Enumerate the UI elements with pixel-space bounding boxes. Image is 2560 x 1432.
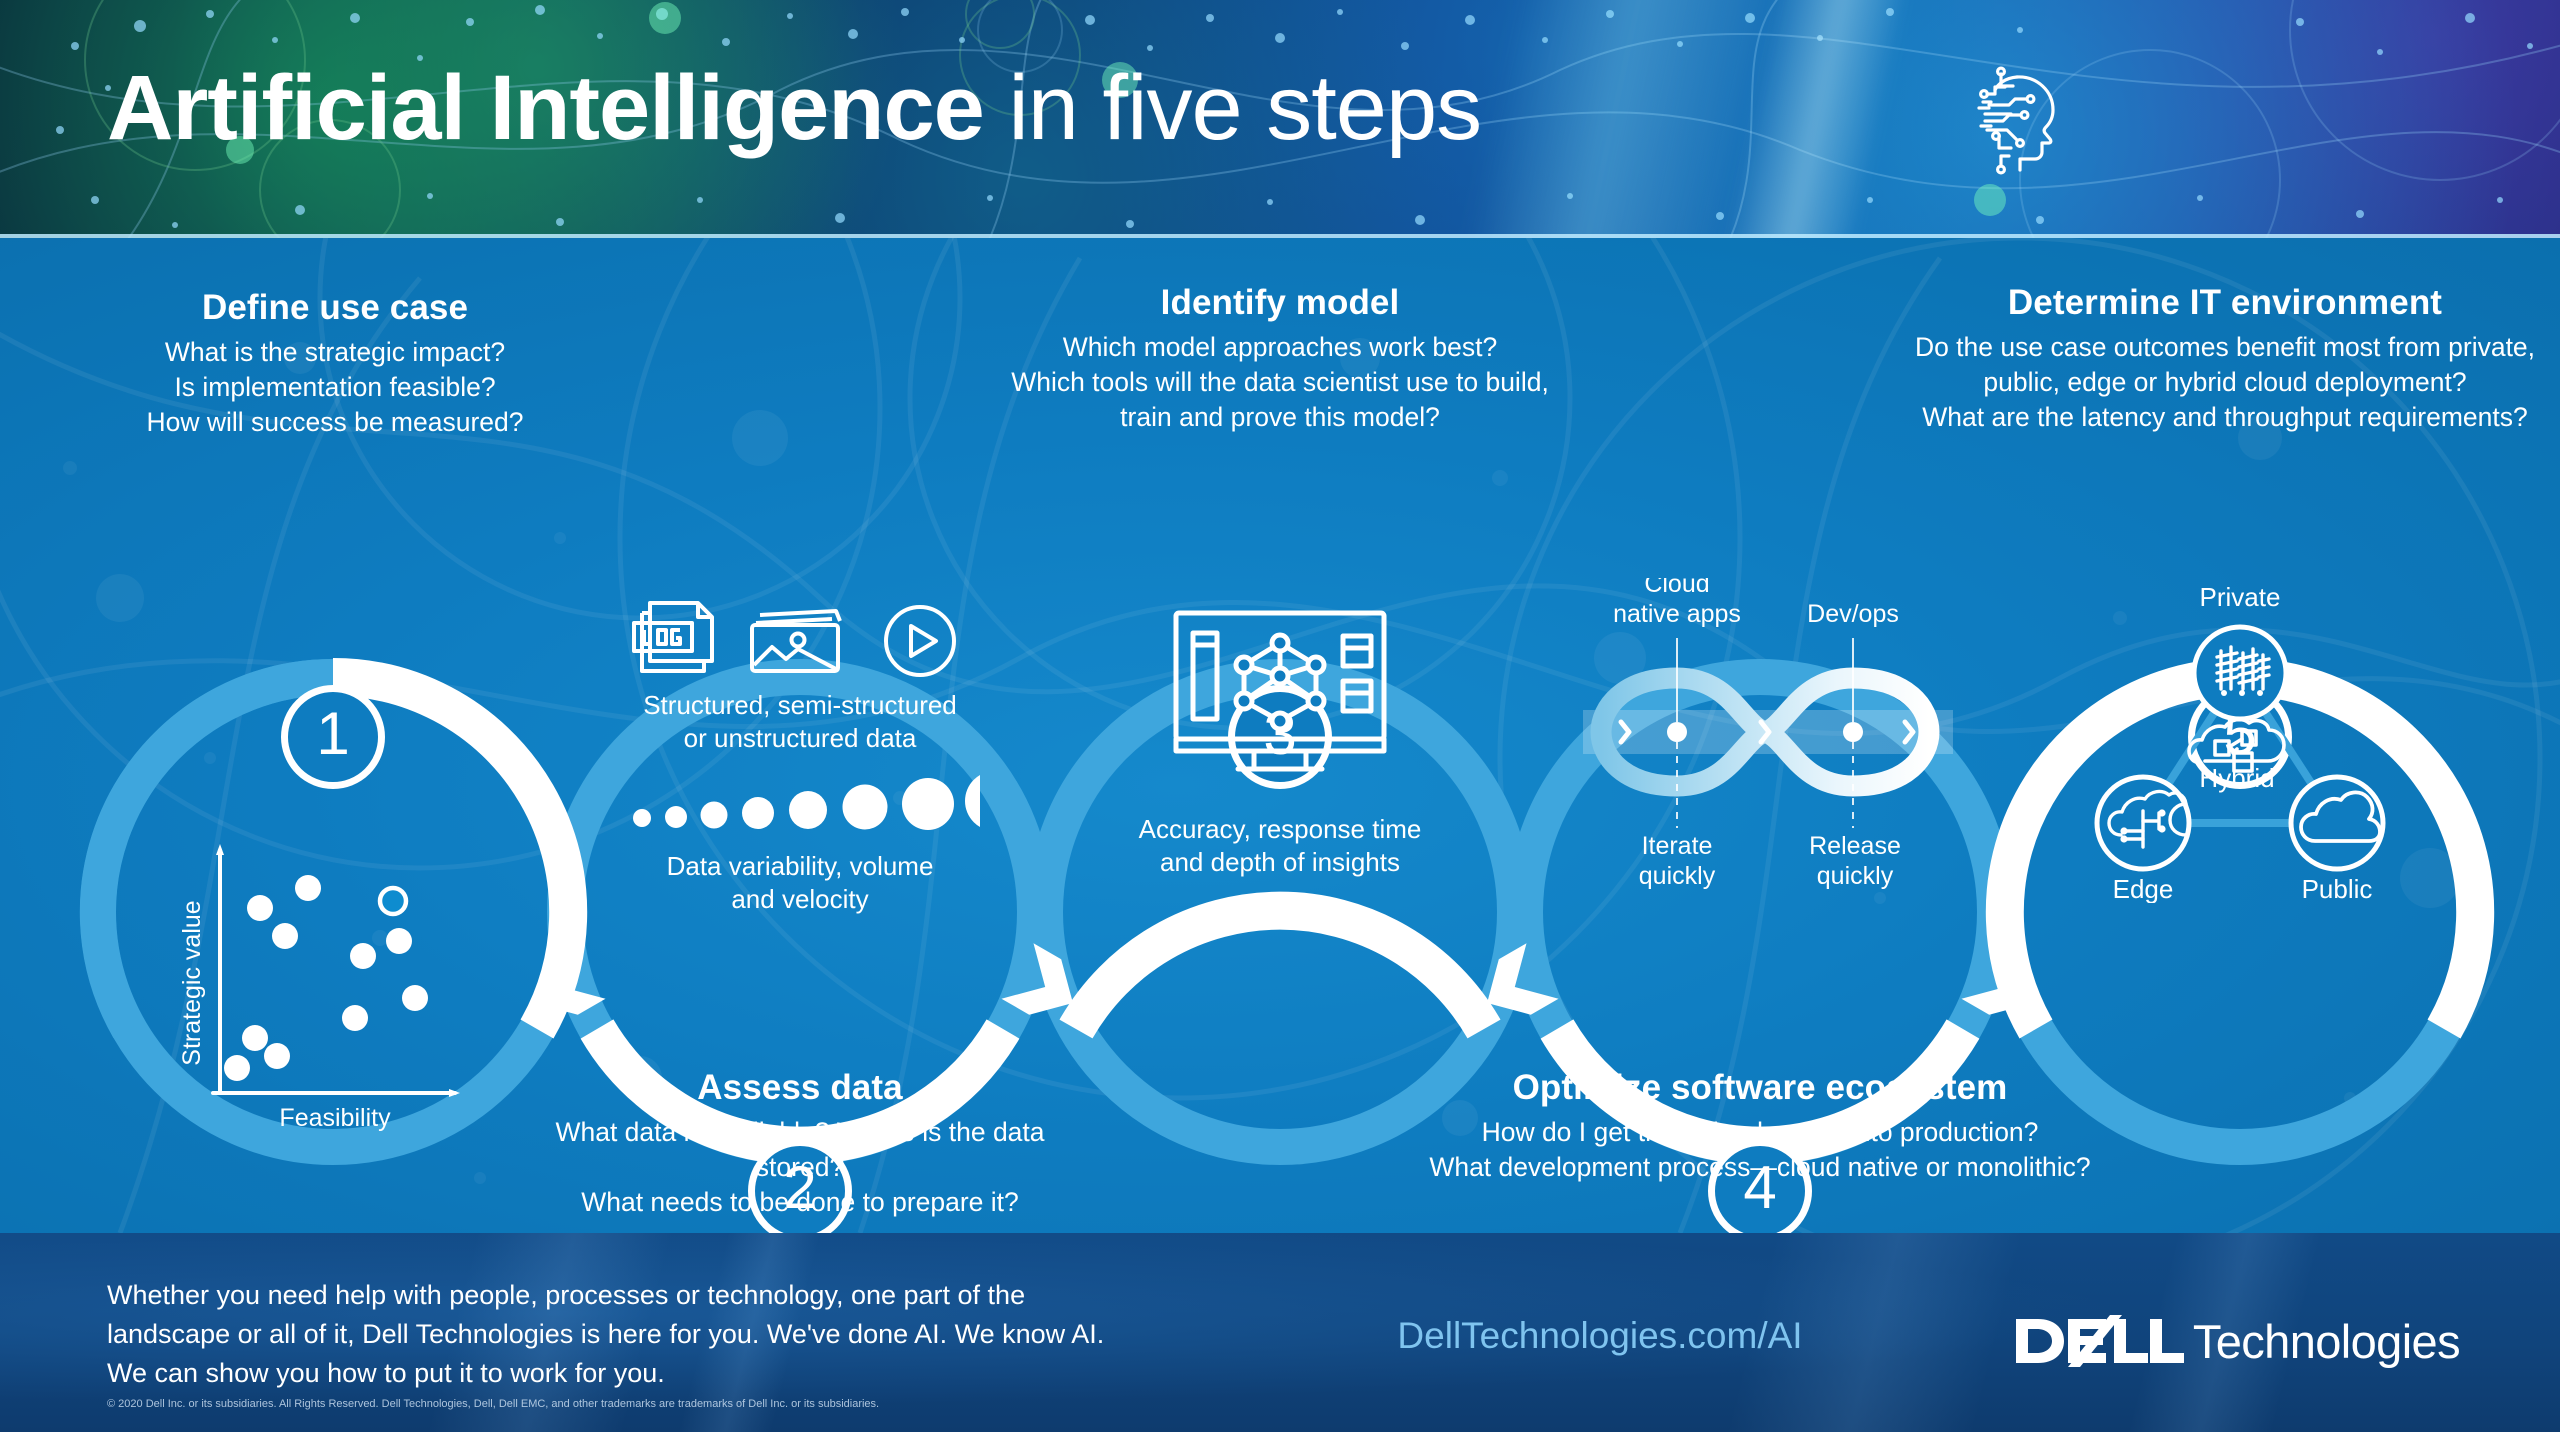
step-3-panel: Identify model Which model approaches wo… <box>985 283 1575 435</box>
step-2-title: Assess data <box>510 1068 1090 1107</box>
footer-copy: Whether you need help with people, proce… <box>107 1276 1127 1393</box>
step-5-line-1: Do the use case outcomes benefit most fr… <box>1900 330 2550 365</box>
scatter-x-axis-label: Feasibility <box>279 1104 391 1132</box>
main-flow-area: 1 2 3 4 5 Define use case What is the st… <box>0 238 2560 1233</box>
step-3-line-2: Which tools will the data scientist use … <box>985 365 1575 400</box>
step-4-title: Optimize software ecosystem <box>1420 1068 2100 1107</box>
step-3-line-1: Which model approaches work best? <box>985 330 1575 365</box>
step-2-caption-bottom: Data variability, volume and velocity <box>620 850 980 917</box>
step-1-panel: Define use case What is the strategic im… <box>55 288 615 440</box>
step-1-title: Define use case <box>55 288 615 327</box>
step-1-scatter-plot: Strategic value Feasibility <box>175 828 495 1138</box>
step-2-line-2: What needs to be done to prepare it? <box>510 1185 1090 1220</box>
dell-technologies-logo: Technologies <box>2014 1313 2460 1369</box>
step-5-panel: Determine IT environment Do the use case… <box>1900 283 2550 435</box>
footer-copy-line-3: We can show you how to put it to work fo… <box>107 1354 1127 1393</box>
step-2-caption-top-line-1: Structured, semi-structured <box>620 689 980 722</box>
devops-node-left <box>1667 722 1687 742</box>
step-3-caption-line-2: and depth of insights <box>1090 846 1470 879</box>
step-2-line-1: What data is available? Where is the dat… <box>510 1115 1090 1185</box>
step-3-art: Accuracy, response time and depth of ins… <box>1090 603 1470 880</box>
legal-copyright: © 2020 Dell Inc. or its subsidiaries. Al… <box>107 1398 1307 1411</box>
step-5-label-edge: Edge <box>2113 874 2174 903</box>
edge-node <box>2097 777 2189 869</box>
step-5-title: Determine IT environment <box>1900 283 2550 322</box>
monitor-network-graph-icon <box>1166 603 1394 783</box>
chevron-joint-group <box>518 943 2049 1030</box>
ai-head-circuit-icon <box>1965 60 2085 180</box>
step-5-label-private: Private <box>2200 582 2281 612</box>
step-4-label-iterate-line-2: quickly <box>1639 862 1716 890</box>
step-1-line-3: How will success be measured? <box>55 405 615 440</box>
step-4-devops-infinity-art: Cloud native apps Dev/ops Iterate quickl… <box>1565 578 1965 918</box>
step-2-caption-bottom-line-2: and velocity <box>620 883 980 916</box>
step-5-label-hybrid: Hybrid <box>2199 763 2274 793</box>
header-banner: Artificial Intelligence in five steps <box>0 0 2560 238</box>
scatter-x-arrowhead <box>449 1089 460 1097</box>
infographic-page: Artificial Intelligence in five steps <box>0 0 2560 1432</box>
step-2-panel: Assess data What data is available? Wher… <box>510 1068 1090 1220</box>
network-nodes <box>1236 635 1324 729</box>
step-4-panel: Optimize software ecosystem How do I get… <box>1420 1068 2100 1185</box>
ring-3-white-arc <box>1076 911 1484 1029</box>
dell-wordmark-icon <box>2014 1313 2186 1369</box>
dell-logo-word: Technologies <box>2193 1314 2460 1369</box>
step-2-icon-row <box>620 593 980 679</box>
step-1-line-2: Is implementation feasible? <box>55 370 615 405</box>
step-4-label-release-line-2: quickly <box>1817 862 1894 890</box>
step-5-cloud-triangle-art: Private Hybrid Edge Public <box>2065 573 2415 903</box>
step-1-number-badge[interactable]: 1 <box>281 685 385 789</box>
step-5-line-3: What are the latency and throughput requ… <box>1900 400 2550 435</box>
image-stack-icon <box>752 611 840 671</box>
footer-url-link[interactable]: DellTechnologies.com/AI <box>1300 1315 1900 1357</box>
step-4-label-iterate-line-1: Iterate <box>1642 832 1713 860</box>
footer-copy-line-2: landscape or all of it, Dell Technologie… <box>107 1315 1127 1354</box>
step-3-line-3: train and prove this model? <box>985 400 1575 435</box>
step-3-caption-line-1: Accuracy, response time <box>1090 813 1470 846</box>
step-5-line-2: public, edge or hybrid cloud deployment? <box>1900 365 2550 400</box>
step-3-caption: Accuracy, response time and depth of ins… <box>1090 813 1470 880</box>
step-4-label-cloud-native-line-1: Cloud <box>1644 578 1709 598</box>
step-1-number: 1 <box>316 704 349 764</box>
scatter-selected-point <box>380 888 406 914</box>
play-circle-icon <box>886 607 954 675</box>
step-2-art: Structured, semi-structured or unstructu… <box>620 593 980 916</box>
page-title-bold: Artificial Intelligence <box>107 57 984 159</box>
step-4-label-release-line-1: Release <box>1809 832 1901 860</box>
growing-dots-scale-icon <box>620 774 980 844</box>
step-1-line-1: What is the strategic impact? <box>55 335 615 370</box>
devops-node-right <box>1843 722 1863 742</box>
log-document-icon <box>634 603 712 671</box>
step-3-title: Identify model <box>985 283 1575 322</box>
step-5-label-public: Public <box>2302 874 2373 903</box>
scatter-y-arrowhead <box>216 844 224 855</box>
scatter-y-axis-label: Strategic value <box>178 900 206 1065</box>
step-2-caption-top: Structured, semi-structured or unstructu… <box>620 689 980 756</box>
step-4-line-1: How do I get the trained model into prod… <box>1420 1115 2100 1150</box>
private-node <box>2194 627 2286 719</box>
step-4-label-devops: Dev/ops <box>1807 600 1899 628</box>
step-2-caption-bottom-line-1: Data variability, volume <box>620 850 980 883</box>
page-title-light: in five steps <box>984 57 1481 159</box>
footer-copy-line-1: Whether you need help with people, proce… <box>107 1276 1127 1315</box>
public-node <box>2291 777 2383 869</box>
step-4-line-2: What development process—cloud native or… <box>1420 1150 2100 1185</box>
page-title: Artificial Intelligence in five steps <box>107 62 1481 154</box>
step-2-caption-top-line-2: or unstructured data <box>620 722 980 755</box>
step-4-label-cloud-native-line-2: native apps <box>1613 600 1741 628</box>
